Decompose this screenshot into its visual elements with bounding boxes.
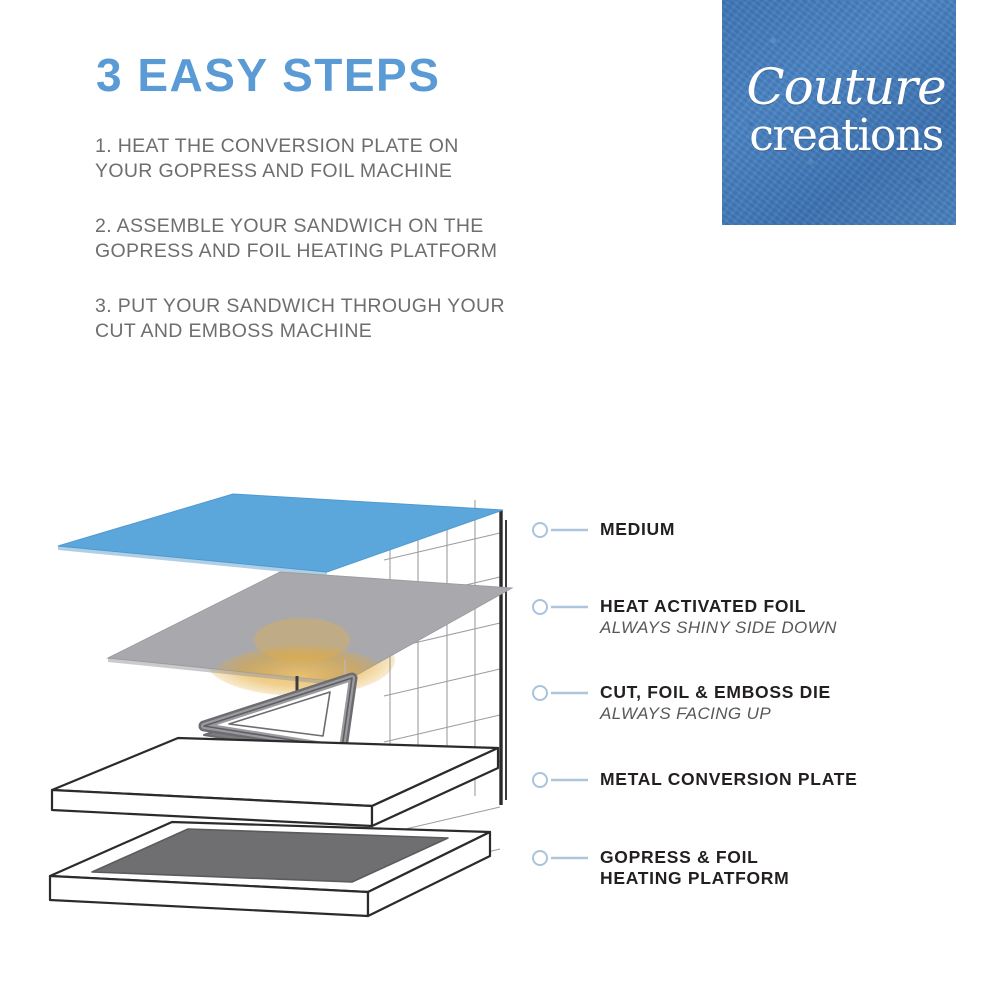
callout-title: MEDIUM (600, 519, 675, 540)
medium-layer (58, 494, 503, 576)
leader-foil (533, 600, 588, 614)
logo-word-creations: creations (740, 110, 952, 161)
callout-title: HEAT ACTIVATED FOIL (600, 596, 837, 617)
infographic-page: 3 EASY STEPS 1. HEAT THE CONVERSION PLAT… (0, 0, 1000, 1000)
callout-title: GOPRESS & FOIL (600, 847, 789, 868)
callout-title-line2: HEATING PLATFORM (600, 868, 789, 889)
guide-post (501, 510, 506, 805)
leader-plate (533, 773, 588, 787)
heating-platform (50, 822, 490, 916)
callout-subtitle: ALWAYS SHINY SIDE DOWN (600, 617, 837, 638)
callout-medium: MEDIUM (600, 519, 675, 540)
callout-heating-platform: GOPRESS & FOIL HEATING PLATFORM (600, 847, 789, 889)
logo-word-couture: Couture (740, 58, 952, 116)
leader-medium (533, 523, 588, 537)
callout-emboss-die: CUT, FOIL & EMBOSS DIE ALWAYS FACING UP (600, 682, 831, 724)
leader-die (533, 686, 588, 700)
callout-title: CUT, FOIL & EMBOSS DIE (600, 682, 831, 703)
callout-subtitle: ALWAYS FACING UP (600, 703, 831, 724)
callout-leaders (533, 523, 588, 865)
callout-metal-conversion-plate: METAL CONVERSION PLATE (600, 769, 858, 790)
alignment-grid (384, 500, 500, 876)
callout-title: METAL CONVERSION PLATE (600, 769, 858, 790)
callout-heat-activated-foil: HEAT ACTIVATED FOIL ALWAYS SHINY SIDE DO… (600, 596, 837, 638)
leader-platform (533, 851, 588, 865)
metal-conversion-plate (52, 738, 498, 826)
